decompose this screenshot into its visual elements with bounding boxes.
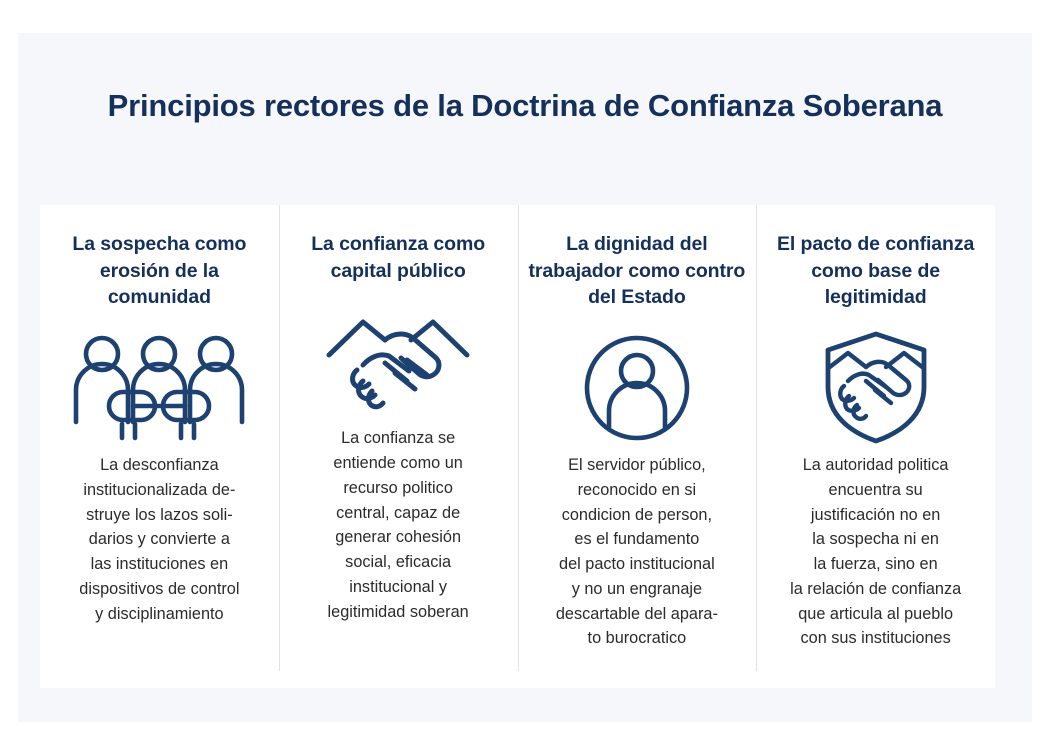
principle-body-3: El servidor público, reconocido en si co… (524, 453, 751, 651)
principle-column-4[interactable]: El pacto de confianza como base de legit… (756, 205, 995, 688)
principle-body-4: La autoridad politica encuentra su justi… (762, 453, 989, 651)
principle-body-2: La confianza se entiende como un recurso… (285, 426, 512, 624)
slide-root: Principios rectores de la Doctrina de Co… (0, 0, 1050, 750)
three-people-chain-icon (67, 329, 251, 447)
principle-body-1: La desconfianza institucionalizada de- s… (46, 453, 273, 626)
page-title: Principios rectores de la Doctrina de Co… (60, 86, 990, 126)
principle-column-3[interactable]: La dignidad del trabajador como contro d… (518, 205, 757, 688)
principle-heading-3: La dignidad del trabajador como contro d… (524, 231, 751, 311)
principle-heading-1: La sospecha como erosión de la comunidad (46, 231, 273, 311)
principle-heading-2: La confianza como capital público (285, 231, 512, 284)
handshake-icon (323, 302, 473, 420)
person-in-circle-icon (582, 329, 692, 447)
principles-card: La sospecha como erosión de la comunidad (40, 205, 995, 688)
shield-handshake-icon (818, 329, 934, 447)
principle-heading-4: El pacto de confianza como base de legit… (762, 231, 989, 311)
principle-column-1[interactable]: La sospecha como erosión de la comunidad (40, 205, 279, 688)
principle-column-2[interactable]: La confianza como capital público (279, 205, 518, 688)
